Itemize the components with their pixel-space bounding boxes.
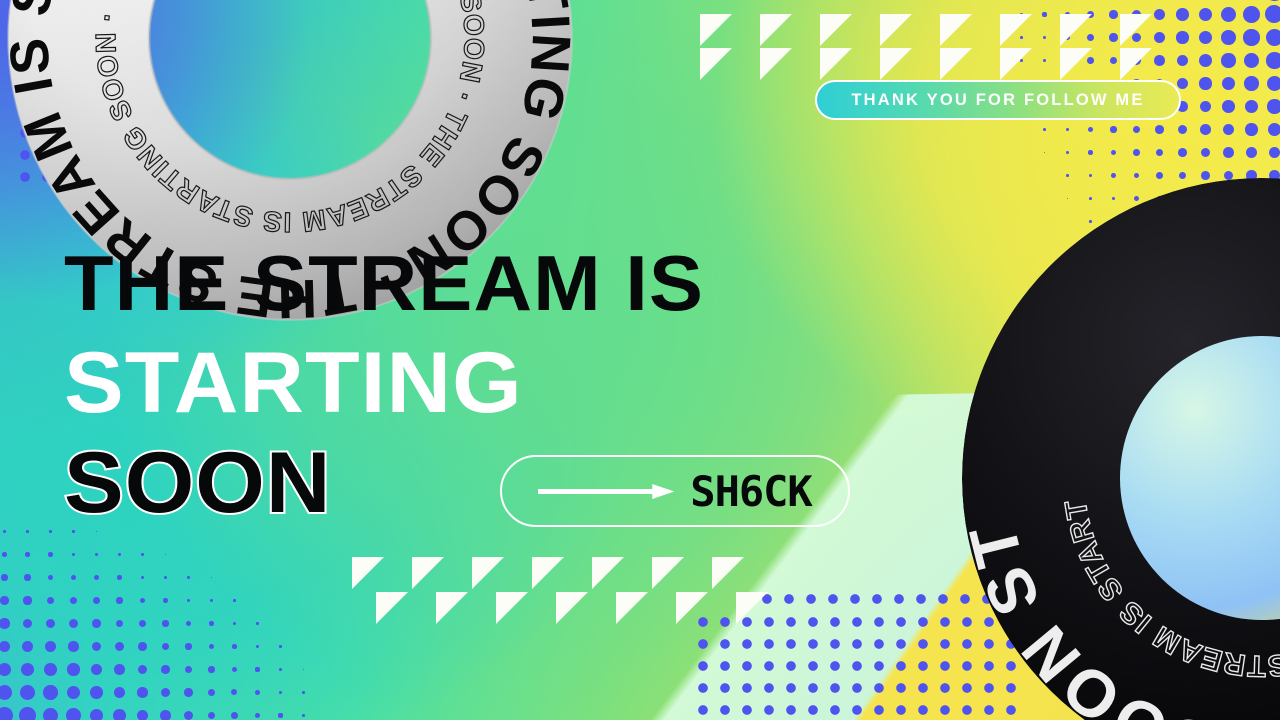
triangle-decor <box>760 14 792 46</box>
halftone-dot <box>185 643 191 649</box>
halftone-dot <box>1065 35 1070 40</box>
halftone-dot <box>1221 30 1236 45</box>
halftone-dot <box>208 689 215 696</box>
triangle-decor <box>760 48 792 80</box>
halftone-dot <box>66 708 81 720</box>
halftone-dot <box>1178 125 1188 135</box>
halftone-dot <box>1266 52 1280 68</box>
halftone-dot <box>1199 77 1211 89</box>
stream-starting-soon-overlay: THE STREAM IS STARTING SOON · THE STREAM… <box>0 0 1280 720</box>
thank-you-badge[interactable]: THANK YOU FOR FOLLOW ME <box>815 80 1181 120</box>
triangle-decor <box>880 14 912 46</box>
halftone-dot <box>1222 100 1235 113</box>
halftone-dot <box>1044 152 1046 154</box>
halftone-dot <box>68 641 79 652</box>
triangle-decor <box>496 592 528 624</box>
headline-line-3: SOON <box>64 434 332 533</box>
halftone-dot <box>1110 126 1116 132</box>
halftone-dot <box>45 641 56 652</box>
halftone-dot <box>1159 290 1161 292</box>
diagonal-light-band <box>555 383 1280 720</box>
halftone-dot <box>1199 8 1213 22</box>
halftone-dot <box>1243 6 1260 23</box>
halftone-dot <box>1249 265 1254 270</box>
halftone-dot <box>20 685 35 700</box>
halftone-dot <box>255 667 259 671</box>
halftone-dot <box>1043 128 1046 131</box>
halftone-dot <box>1178 148 1187 157</box>
halftone-dot <box>1180 219 1186 225</box>
halftone-dot <box>161 688 171 698</box>
halftone-dot <box>0 596 8 604</box>
halftone-dot <box>67 663 79 675</box>
halftone-dot <box>279 645 281 647</box>
halftone-dot <box>24 574 30 580</box>
triangle-row-bottom-2 <box>376 592 796 624</box>
halftone-dot <box>1066 174 1069 177</box>
halftone-dot <box>1087 34 1094 41</box>
halftone-dot <box>1269 147 1280 159</box>
halftone-dot <box>48 575 54 581</box>
halftone-dot <box>49 530 51 532</box>
triangle-decor <box>1120 48 1152 80</box>
halftone-dot <box>1267 99 1280 113</box>
halftone-dot <box>231 712 238 719</box>
halftone-dot <box>1109 33 1117 41</box>
halftone-dot <box>26 530 29 533</box>
halftone-dot <box>211 577 213 579</box>
halftone-dot <box>1201 148 1211 158</box>
triangle-decor <box>676 592 708 624</box>
halftone-dot <box>1020 13 1023 16</box>
halftone-dot <box>0 663 11 677</box>
halftone-dot <box>113 709 126 720</box>
dot-grid-top-left <box>10 118 140 182</box>
halftone-dot <box>1112 220 1115 223</box>
halftone-dot <box>1133 126 1140 133</box>
halftone-dot <box>255 713 260 718</box>
halftone-dot <box>1270 194 1279 203</box>
halftone-dot <box>2 552 7 557</box>
halftone-dot <box>21 663 34 676</box>
diagonal-yellow-wedge <box>800 310 1280 720</box>
triangle-decor <box>736 592 768 624</box>
halftone-dot <box>1201 171 1210 180</box>
triangle-row-top-1 <box>700 14 1180 46</box>
halftone-dot <box>116 620 124 628</box>
halftone-dot <box>1132 10 1142 20</box>
halftone-dot <box>1135 243 1138 246</box>
halftone-dot <box>186 621 191 626</box>
halftone-dot <box>185 666 192 673</box>
triangle-decor <box>820 48 852 80</box>
halftone-dot <box>1154 9 1165 20</box>
triangle-decor <box>1000 14 1032 46</box>
thank-you-label: THANK YOU FOR FOLLOW ME <box>851 91 1144 110</box>
halftone-dot <box>1135 266 1137 268</box>
triangle-decor <box>940 14 972 46</box>
halftone-dot <box>162 620 168 626</box>
triangle-decor <box>532 557 564 589</box>
triangle-decor <box>1060 48 1092 80</box>
halftone-dot <box>1271 241 1278 248</box>
halftone-dot <box>1176 31 1188 43</box>
halftone-dot <box>187 599 191 603</box>
triangle-decor <box>940 48 972 80</box>
halftone-dot <box>25 552 29 556</box>
halftone-dot <box>1112 243 1114 245</box>
halftone-dot <box>187 576 189 578</box>
halftone-dot <box>1244 53 1259 68</box>
halftone-dot <box>118 553 121 556</box>
halftone-dot <box>1268 123 1280 136</box>
triangle-decor <box>352 557 384 589</box>
halftone-dot <box>1132 33 1142 43</box>
halftone-dot <box>1272 288 1276 292</box>
halftone-dot <box>23 619 33 629</box>
halftone-dot <box>256 622 258 624</box>
halftone-dot <box>233 599 235 601</box>
halftone-dot <box>116 597 122 603</box>
halftone-dot <box>1043 36 1047 40</box>
halftone-dot <box>1272 265 1278 271</box>
halftone-dot <box>303 669 305 671</box>
halftone-bottom-left <box>0 520 300 720</box>
halftone-dot <box>1226 265 1231 270</box>
halftone-dot <box>232 667 237 672</box>
halftone-dot <box>184 711 193 720</box>
halftone-dot <box>1245 100 1258 113</box>
triangle-decor <box>1120 14 1152 46</box>
dot-grid-bottom <box>688 607 1018 720</box>
dot-grid-bottom-upper <box>752 584 1020 614</box>
triangle-decor <box>616 592 648 624</box>
halftone-dot <box>1250 312 1253 315</box>
halftone-dot <box>163 598 168 603</box>
halftone-dot <box>1200 101 1212 113</box>
halftone-dot <box>1067 198 1069 200</box>
triangle-decor <box>1060 14 1092 46</box>
halftone-dot <box>137 710 148 720</box>
halftone-dot <box>90 709 104 720</box>
halftone-dot <box>1225 218 1232 225</box>
halftone-dot <box>1087 57 1093 63</box>
triangle-decor <box>652 557 684 589</box>
halftone-dot <box>92 642 102 652</box>
halftone-dot <box>1111 173 1116 178</box>
halftone-dot <box>1202 218 1208 224</box>
halftone-dot <box>1088 150 1092 154</box>
arrow-right-icon <box>538 484 674 498</box>
triangle-decor <box>412 557 444 589</box>
halftone-dot <box>279 668 282 671</box>
halftone-dot <box>1221 7 1236 22</box>
halftone-dot <box>1066 128 1070 132</box>
halftone-dot <box>1227 289 1231 293</box>
triangle-row-top-2 <box>700 48 1180 80</box>
halftone-dot <box>1243 29 1259 45</box>
halftone-dot <box>1179 195 1186 202</box>
halftone-dot <box>279 691 283 695</box>
triangle-row-bottom-1 <box>352 557 772 589</box>
halftone-dot <box>92 619 100 627</box>
triangle-decor <box>376 592 408 624</box>
triangle-decor <box>472 557 504 589</box>
halftone-dot <box>1203 242 1208 247</box>
halftone-dot <box>161 665 170 674</box>
halftone-dot <box>210 599 213 602</box>
halftone-dot <box>0 618 10 628</box>
halftone-dot <box>0 641 10 653</box>
halftone-dot <box>1134 219 1138 223</box>
triangle-decor <box>592 557 624 589</box>
halftone-dot <box>1134 196 1139 201</box>
halftone-dot <box>47 597 55 605</box>
halftone-dot <box>1221 53 1235 67</box>
halftone-dot <box>1042 12 1046 16</box>
halftone-dot <box>1109 10 1117 18</box>
halftone-dot <box>1065 12 1071 18</box>
halftone-dot <box>1224 194 1232 202</box>
halftone-dot <box>1199 54 1212 67</box>
halftone-dot <box>1133 149 1140 156</box>
halftone-dot <box>1246 170 1256 180</box>
halftone-dot <box>1112 197 1116 201</box>
halftone-dot <box>69 619 78 628</box>
halftone-dot <box>1224 171 1233 180</box>
halftone-dot <box>1223 147 1234 158</box>
halftone-dot <box>1065 58 1070 63</box>
halftone-dot <box>302 691 304 693</box>
ring-bottom-right: STREAM IS STARTING SOON STREAM IS STARTI… <box>921 137 1280 720</box>
halftone-dot <box>1156 172 1163 179</box>
halftone-dot <box>1270 217 1278 225</box>
halftone-dot <box>1181 266 1185 270</box>
halftone-dot <box>1200 124 1211 135</box>
halftone-dot <box>44 663 57 676</box>
halftone-dot <box>1 574 7 580</box>
halftone-dot <box>94 575 99 580</box>
halftone-dot <box>1269 170 1280 181</box>
halftone-dot <box>138 642 146 650</box>
halftone-dot <box>19 707 36 720</box>
halftone-dot <box>115 642 124 651</box>
triangle-decor <box>712 557 744 589</box>
halftone-dot <box>184 688 192 696</box>
halftone-dot <box>117 575 122 580</box>
halftone-dot <box>1205 313 1207 315</box>
halftone-dot <box>1089 220 1091 222</box>
ring-bottom-right-inner-text: STREAM IS STARTING SOON STREAM IS STARTI… <box>906 122 1280 714</box>
halftone-dot <box>1267 76 1280 91</box>
halftone-dot <box>46 619 55 628</box>
halftone-dot <box>1176 8 1189 21</box>
halftone-dot <box>22 641 34 653</box>
triangle-decor <box>556 592 588 624</box>
halftone-dot <box>1227 312 1229 314</box>
halftone-dot <box>1111 150 1117 156</box>
halftone-dot <box>1177 55 1189 67</box>
halftone-dot <box>137 687 148 698</box>
halftone-dot <box>1273 312 1276 315</box>
halftone-dot <box>208 712 216 720</box>
halftone-dot <box>71 575 77 581</box>
halftone-dot <box>114 664 125 675</box>
handle-badge[interactable]: SH6CK <box>500 455 850 527</box>
halftone-dot <box>3 530 6 533</box>
halftone-dot <box>1088 127 1093 132</box>
halftone-dot <box>1199 31 1213 45</box>
halftone-dot <box>1250 289 1254 293</box>
halftone-dot <box>1089 174 1093 178</box>
ring-top-left-text: THE STREAM IS STARTING SOON · THE STREAM… <box>0 0 660 392</box>
halftone-dot <box>43 708 59 720</box>
halftone-dot <box>233 622 236 625</box>
halftone-dot <box>141 553 143 555</box>
halftone-dot <box>231 689 237 695</box>
halftone-dot <box>1043 59 1047 63</box>
halftone-dot <box>72 553 76 557</box>
halftone-dot <box>1020 36 1023 39</box>
triangle-decor <box>700 48 732 80</box>
halftone-dot <box>1265 0 1280 1</box>
halftone-dot <box>1154 55 1165 66</box>
halftone-dot <box>302 714 305 717</box>
halftone-dot <box>232 644 236 648</box>
halftone-dot <box>1203 265 1207 269</box>
halftone-dot <box>1156 149 1164 157</box>
halftone-dot <box>0 707 13 720</box>
triangle-decor <box>820 14 852 46</box>
halftone-dot <box>1066 151 1069 154</box>
halftone-dot <box>1248 218 1256 226</box>
halftone-dot <box>1265 5 1280 23</box>
halftone-dot <box>1179 172 1187 180</box>
halftone-dot <box>208 666 214 672</box>
halftone-dot <box>165 554 167 556</box>
halftone-dot <box>1180 242 1185 247</box>
halftone-dot <box>1158 266 1161 269</box>
halftone-dot <box>209 621 213 625</box>
halftone-dot <box>91 664 102 675</box>
halftone-dot <box>1154 32 1165 43</box>
halftone-dot <box>1134 173 1140 179</box>
halftone-dot <box>140 598 145 603</box>
halftone-dot <box>1020 59 1022 61</box>
halftone-dot <box>43 685 57 699</box>
halftone-dot <box>1158 243 1162 247</box>
halftone-dot <box>1222 77 1235 90</box>
halftone-dot <box>1157 196 1163 202</box>
halftone-dot <box>1202 195 1210 203</box>
handle-label: SH6CK <box>690 467 811 516</box>
halftone-dot <box>1181 289 1183 291</box>
halftone-dot <box>1157 219 1162 224</box>
triangle-decor <box>700 14 732 46</box>
halftone-dot <box>1244 76 1258 90</box>
halftone-dot <box>256 645 259 648</box>
halftone-dot <box>138 665 148 675</box>
halftone-dot <box>255 690 260 695</box>
halftone-dot <box>164 576 167 579</box>
halftone-top-right <box>1010 0 1280 310</box>
halftone-dot <box>48 552 52 556</box>
headline-line-1: THE STREAM IS <box>64 238 704 329</box>
ring-bottom-right-text: STREAM IS STARTING SOON STREAM IS STARTI… <box>887 77 1280 720</box>
halftone-dot <box>1204 289 1207 292</box>
triangle-decor <box>1000 48 1032 80</box>
halftone-dot <box>1132 56 1141 65</box>
halftone-dot <box>1223 124 1235 136</box>
halftone-dot <box>160 710 170 720</box>
triangle-decor <box>880 48 912 80</box>
halftone-dot <box>1110 57 1118 65</box>
halftone-dot <box>1266 29 1280 46</box>
halftone-dot <box>95 553 98 556</box>
halftone-dot <box>23 596 31 604</box>
headline-line-2: STARTING <box>64 334 523 433</box>
halftone-dot <box>90 686 103 699</box>
halftone-dot <box>278 713 282 717</box>
halftone-dot <box>1247 194 1256 203</box>
halftone-dot <box>1248 241 1254 247</box>
halftone-dot <box>1246 147 1257 158</box>
halftone-dot <box>0 685 12 700</box>
halftone-dot <box>1177 78 1188 89</box>
triangle-decor <box>436 592 468 624</box>
halftone-dot <box>1089 197 1092 200</box>
halftone-dot <box>162 643 169 650</box>
halftone-dot <box>1245 123 1257 135</box>
halftone-dot <box>93 597 100 604</box>
halftone-dot <box>209 644 214 649</box>
halftone-dot <box>1155 125 1164 134</box>
halftone-dot <box>141 576 145 580</box>
halftone-dot <box>1087 11 1094 18</box>
halftone-dot <box>114 687 126 699</box>
halftone-dot <box>1226 242 1232 248</box>
halftone-dot <box>70 597 77 604</box>
halftone-dot <box>139 620 146 627</box>
halftone-dot <box>67 686 81 700</box>
